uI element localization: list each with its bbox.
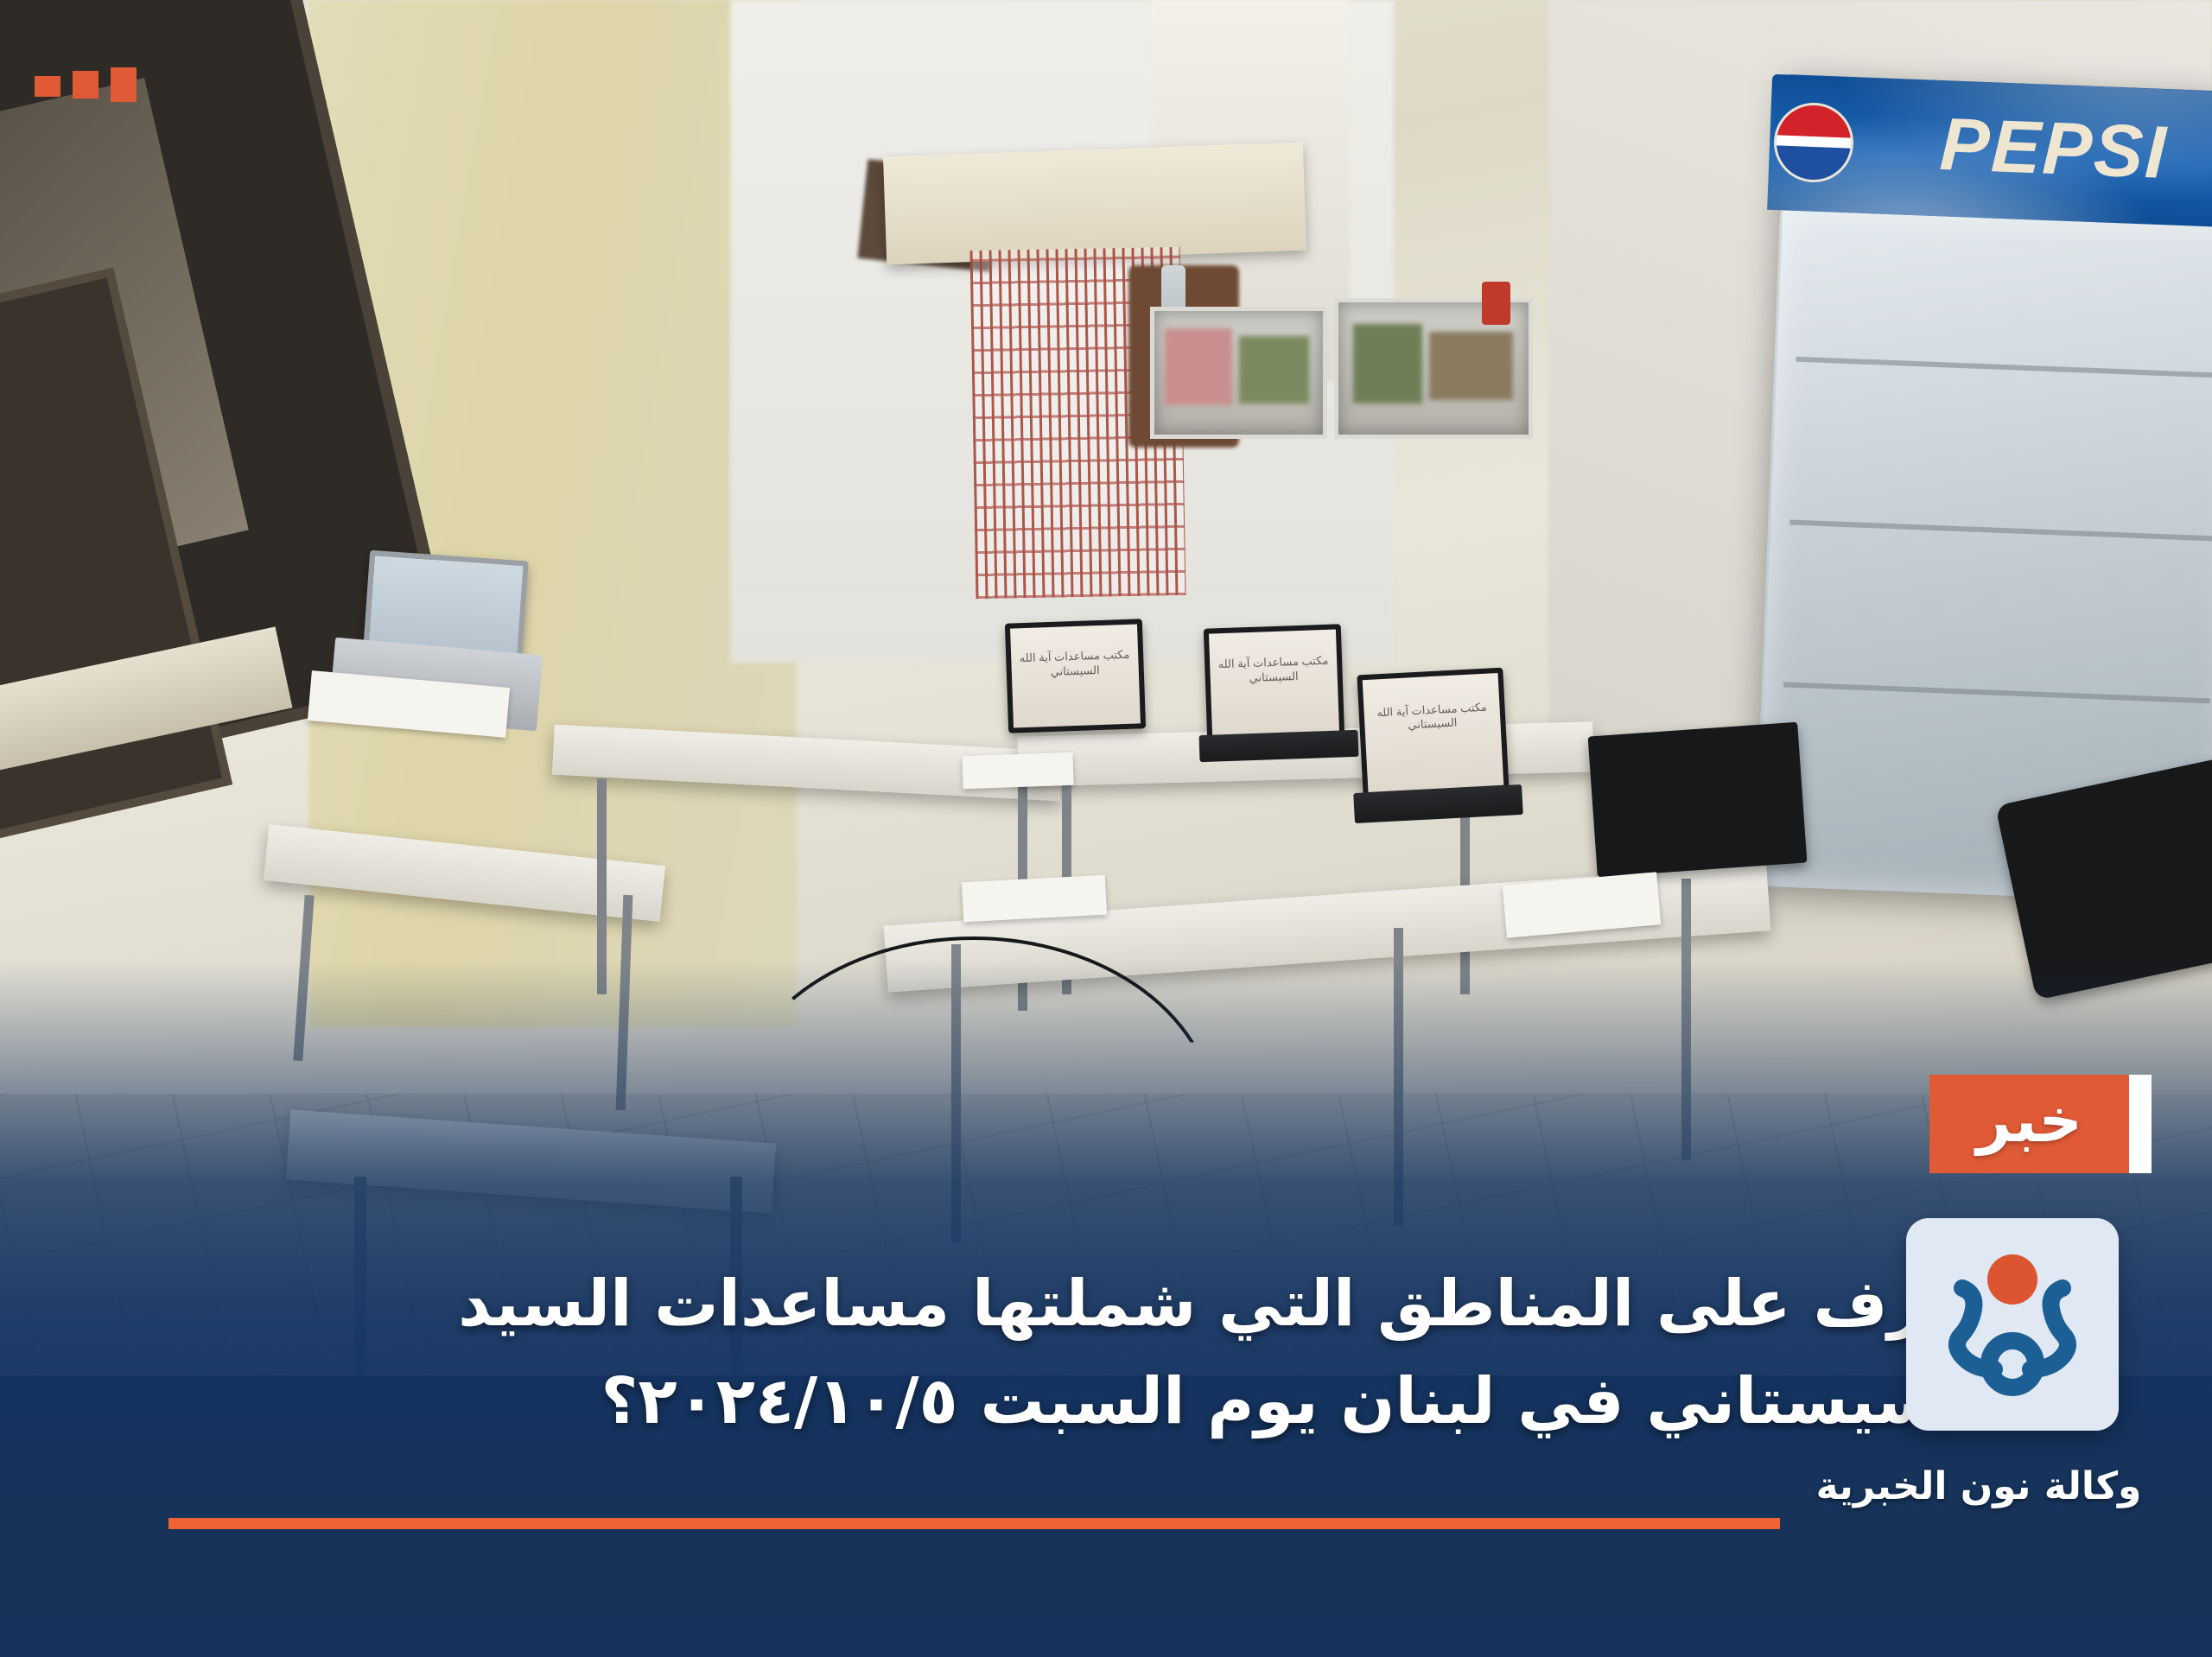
agency-logo	[1906, 1218, 2119, 1431]
badge-white-tick-icon	[2129, 1075, 2152, 1173]
three-bars-mark-icon	[35, 67, 137, 102]
agency-name: وكالة نون الخبرية	[1797, 1464, 2160, 1508]
laptop-note-text: مكتب مساعدات آية الله السيستاني	[1011, 648, 1139, 681]
laptop-note-text: مكتب مساعدات آية الله السيستاني	[1364, 700, 1501, 735]
mark-bar-3	[35, 76, 60, 97]
glass-display-case-1	[1150, 307, 1327, 439]
noon-agency-logo-icon	[1926, 1238, 2099, 1411]
fire-extinguisher	[1482, 282, 1510, 325]
laptop-note-text: مكتب مساعدات آية الله السيستاني	[1210, 654, 1338, 687]
laptop-dark-right	[1588, 722, 1808, 878]
news-badge: خبر	[1929, 1075, 2152, 1173]
badge-label: خبر	[1929, 1075, 2129, 1173]
headline: تعرف على المناطق التي شملتها مساعدات الس…	[160, 1255, 1987, 1450]
laptop-note-2: مكتب مساعدات آية الله السيستاني	[1204, 624, 1344, 741]
range-hood	[883, 142, 1306, 264]
mark-bar-2	[73, 71, 99, 98]
horizontal-rule	[168, 1518, 1780, 1529]
headline-line-1: تعرف على المناطق التي شملتها مساعدات الس…	[160, 1255, 1987, 1352]
laptop-note-3: مكتب مساعدات آية الله السيستاني	[1357, 667, 1510, 797]
news-card: PEPSI	[0, 0, 2212, 1657]
laptop-base	[1198, 730, 1358, 762]
cooler-brand-text: PEPSI	[1939, 102, 2170, 196]
paper-sheet	[962, 752, 1073, 789]
mark-bar-1	[111, 67, 137, 102]
laptop-note-1: مكتب مساعدات آية الله السيستاني	[1005, 619, 1146, 733]
headline-line-2: السيستاني في لبنان يوم السبت ٢٠٢٤/١٠/٥؟	[160, 1353, 1987, 1450]
paper-sheet	[962, 874, 1108, 922]
